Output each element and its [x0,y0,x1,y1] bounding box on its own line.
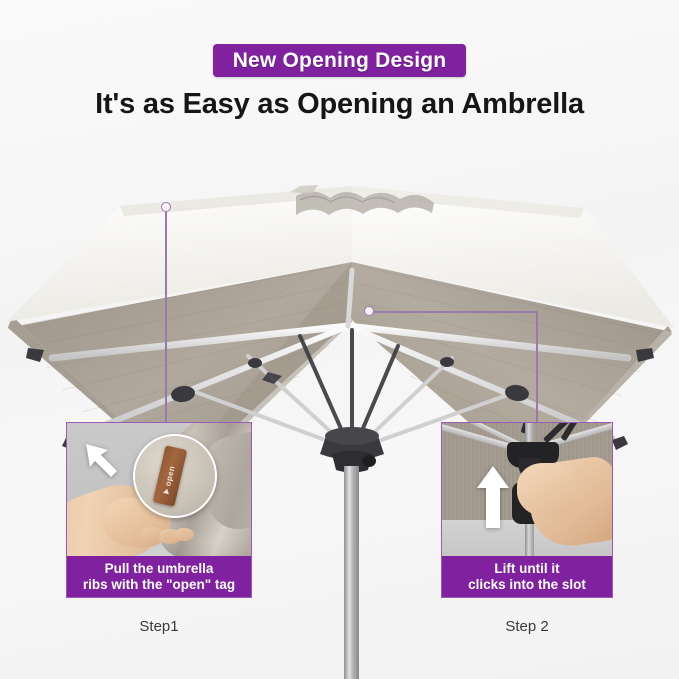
hand-lifting-runner [517,463,575,516]
step-2-caption-line-1: Lift until it [494,561,559,577]
new-opening-design-badge: New Opening Design [213,44,466,77]
connector-line-left [165,207,167,422]
infographic-canvas: New Opening Design It's as Easy as Openi… [0,0,679,679]
magnifier-circle: open [133,434,217,518]
connector-line-right-horizontal [374,311,537,313]
step-1-label: Step1 [99,618,219,635]
connector-line-right-vertical [536,311,538,422]
step-1-caption: Pull the umbrella ribs with the "open" t… [67,556,251,597]
step-2-label: Step 2 [467,618,587,635]
step-2-caption: Lift until it clicks into the slot [442,556,612,597]
open-tag-text: open [164,465,177,487]
step-1-caption-line-2: ribs with the "open" tag [83,577,235,593]
umbrella-illustration [0,150,679,679]
pull-arrow-icon [84,438,128,480]
connector-anchor-right [364,306,374,316]
page-title: It's as Easy as Opening an Ambrella [0,88,679,121]
tag-arrow-icon [163,488,170,494]
connector-anchor-left [161,202,171,212]
step-2-caption-line-2: clicks into the slot [468,577,586,593]
badge-label: New Opening Design [233,49,447,73]
umbrella-product-photo [0,150,679,679]
callout-step-2[interactable]: Lift until it clicks into the slot [441,422,613,598]
open-tag: open [153,445,187,506]
step-1-caption-line-1: Pull the umbrella [105,561,214,577]
step-2-image [442,423,612,556]
lift-arrow-icon [476,466,510,528]
callout-step-1[interactable]: open Pull the umbrella ribs with the "op… [66,422,252,598]
step-1-image: open [67,423,251,556]
